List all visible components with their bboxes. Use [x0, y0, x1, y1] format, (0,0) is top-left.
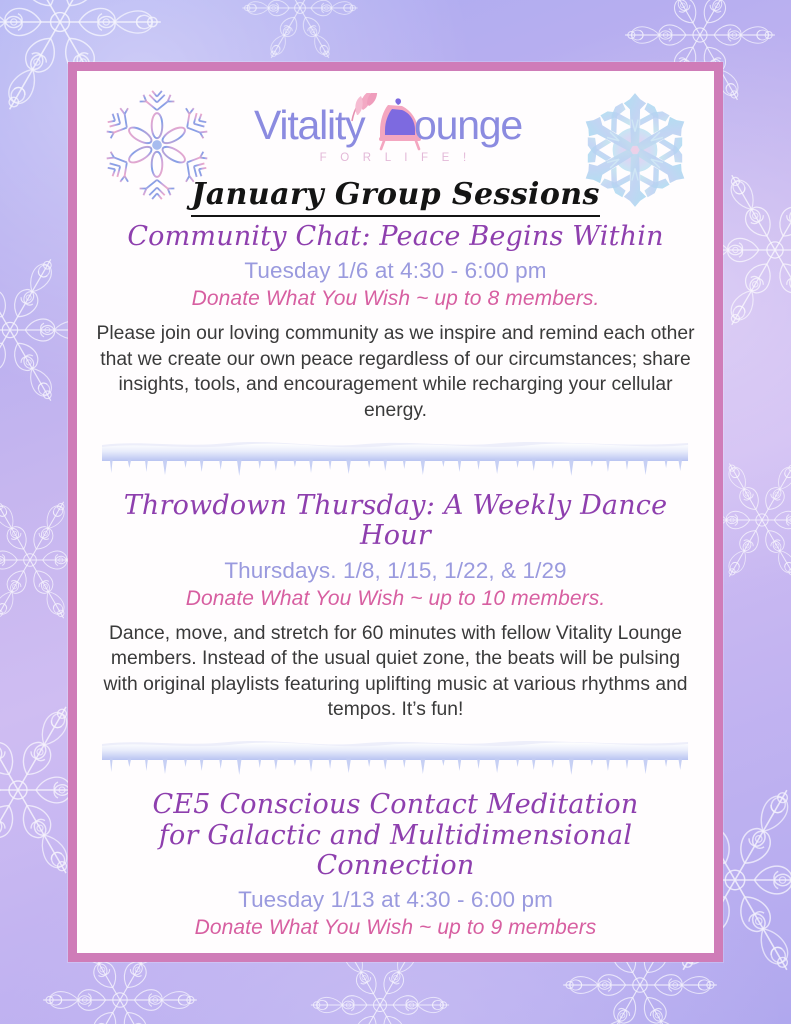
snow-icicle-divider: [102, 738, 688, 780]
session-date: Tuesday 1/13 at 4:30 - 6:00 pm: [91, 887, 700, 913]
logo-word-lounge: ounge: [414, 102, 522, 148]
session-block: Community Chat: Peace Begins Within Tues…: [77, 222, 714, 423]
flyer-card-border: Vitality ounge F O R L I F E ! January G…: [68, 62, 723, 962]
session-block: CE5 Conscious Contact Meditation for Gal…: [77, 790, 714, 953]
session-block: Throwdown Thursday: A Weekly Dance Hour …: [77, 491, 714, 722]
snowflake-icon: [574, 89, 696, 211]
flyer-page: Vitality ounge F O R L I F E ! January G…: [0, 0, 791, 1024]
session-donation-note: Donate What You Wish ~ up to 8 members.: [91, 287, 700, 311]
session-date: Tuesday 1/6 at 4:30 - 6:00 pm: [91, 258, 700, 284]
snow-icicle-divider: [102, 439, 688, 481]
logo-word-vitality: Vitality: [254, 102, 366, 148]
logo-graphic: Vitality ounge: [246, 93, 546, 155]
session-date: Thursdays. 1/8, 1/15, 1/22, & 1/29: [91, 558, 700, 584]
flyer-card: Vitality ounge F O R L I F E ! January G…: [77, 71, 714, 953]
session-description: Please join our loving community as we i…: [91, 321, 700, 423]
session-title: Community Chat: Peace Begins Within: [91, 222, 700, 252]
session-title: Throwdown Thursday: A Weekly Dance Hour: [91, 491, 700, 551]
session-description: This 90-minute CE5 Meditation Session is…: [91, 950, 700, 953]
page-title-text: January Group Sessions: [191, 177, 599, 217]
session-donation-note: Donate What You Wish ~ up to 10 members.: [91, 587, 700, 611]
logo-tagline: F O R L I F E !: [246, 152, 546, 164]
session-title: CE5 Conscious Contact Meditation: [91, 790, 700, 820]
session-donation-note: Donate What You Wish ~ up to 9 members: [91, 916, 700, 940]
vitality-lounge-logo: Vitality ounge F O R L I F E !: [246, 93, 546, 171]
session-description: Dance, move, and stretch for 60 minutes …: [91, 621, 700, 723]
snowflake-icon: [99, 87, 215, 203]
session-title-line2: for Galactic and Multidimensional Connec…: [91, 821, 700, 881]
